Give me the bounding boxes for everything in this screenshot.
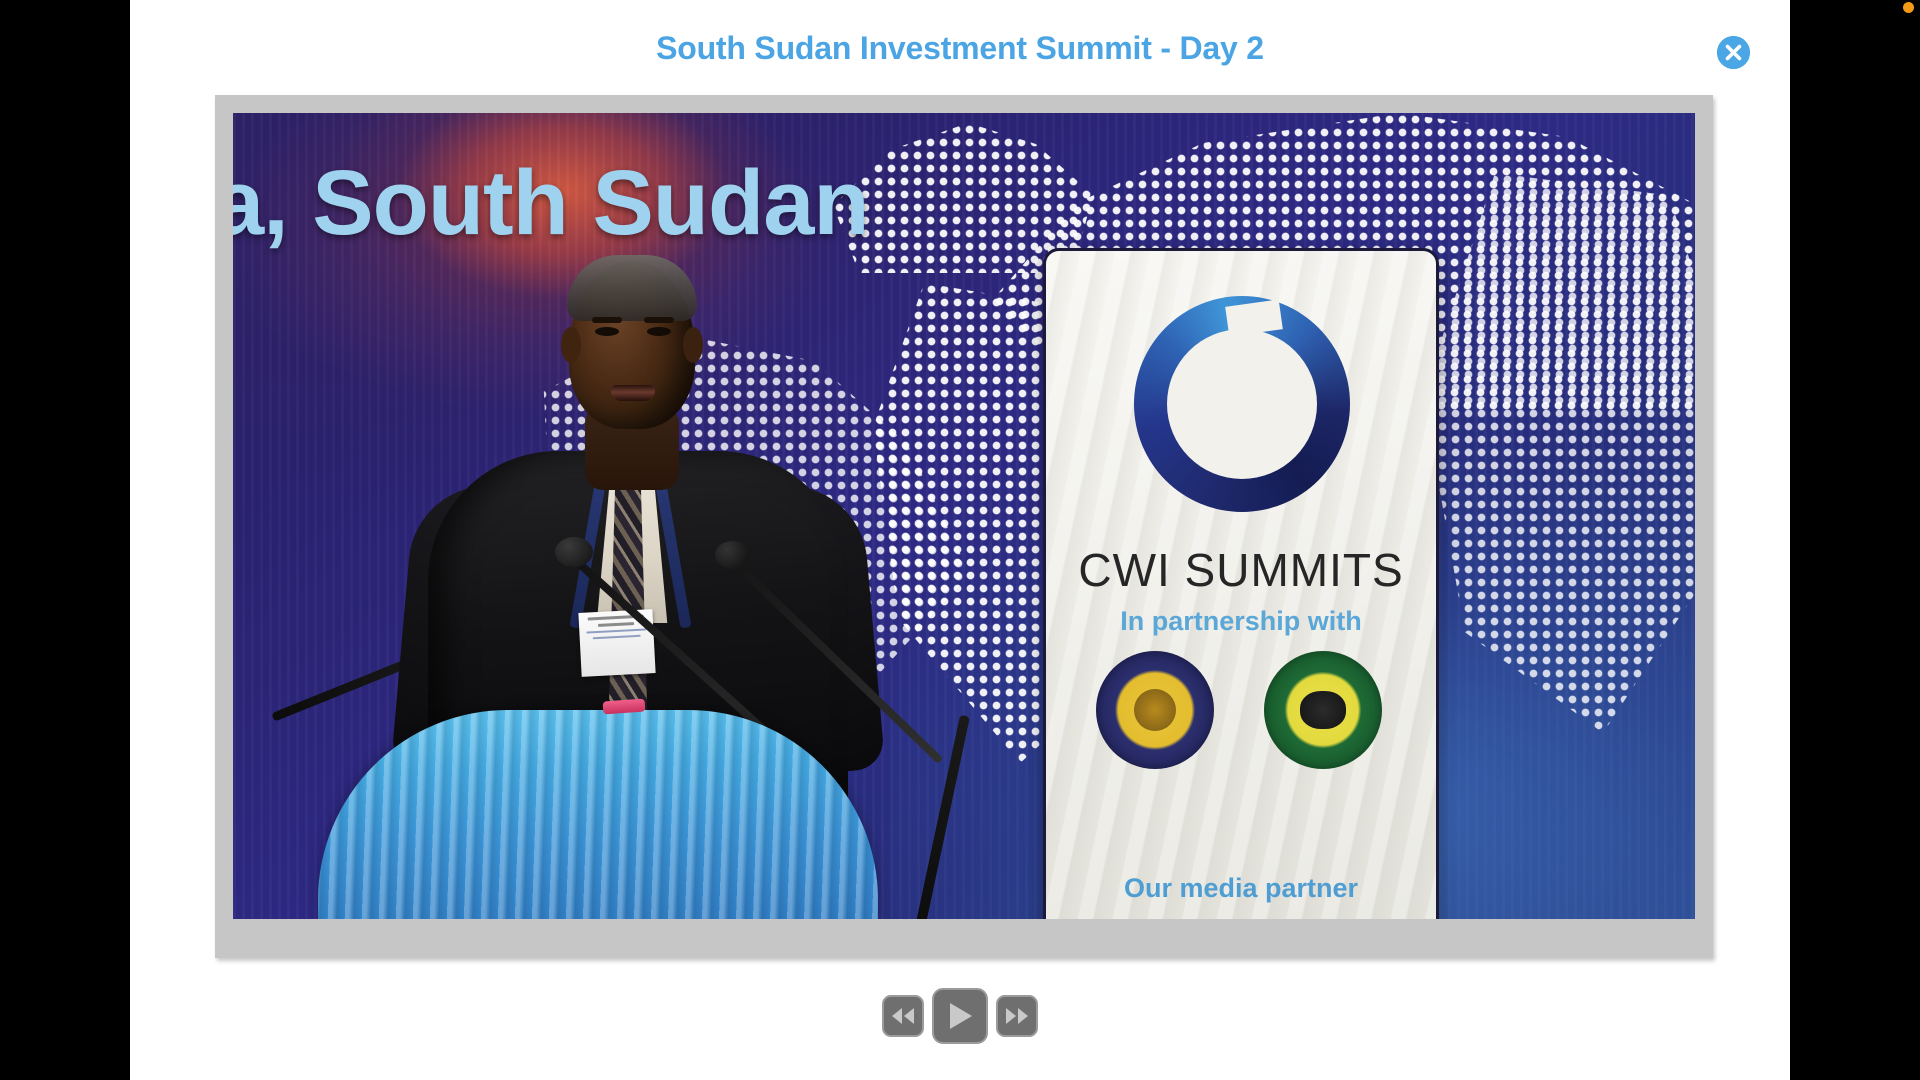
speaker-mouth xyxy=(611,385,655,401)
page-title: South Sudan Investment Summit - Day 2 xyxy=(130,30,1790,67)
fast-forward-icon xyxy=(1005,1007,1029,1025)
rewind-button[interactable] xyxy=(882,995,924,1037)
summit-photo: a, South Sudan CWI SUMMITS In partnershi… xyxy=(233,113,1695,919)
cwi-poster: CWI SUMMITS In partnership with Our medi… xyxy=(1043,248,1439,919)
poster-footer: Our media partner xyxy=(1046,873,1436,904)
letterbox-left xyxy=(0,0,130,1080)
badge-text-line xyxy=(593,635,641,639)
close-button[interactable] xyxy=(1717,36,1750,69)
backdrop-headline: a, South Sudan xyxy=(233,151,869,256)
poster-title: CWI SUMMITS xyxy=(1046,543,1436,597)
play-button[interactable] xyxy=(932,988,988,1044)
screen: South Sudan Investment Summit - Day 2 a,… xyxy=(0,0,1920,1080)
microphone-head-a xyxy=(555,537,593,567)
cwi-ring-logo xyxy=(1134,296,1350,512)
badge-text-line xyxy=(598,622,634,627)
rewind-icon xyxy=(891,1007,915,1025)
speaker-eyebrow-right xyxy=(644,317,674,323)
speaker-eyebrow-left xyxy=(592,317,622,323)
close-circle-icon xyxy=(1717,36,1750,69)
speaker-eye-left xyxy=(595,327,619,336)
playback-controls xyxy=(130,988,1790,1044)
photo-frame: a, South Sudan CWI SUMMITS In partnershi… xyxy=(215,95,1713,958)
speaker-eye-right xyxy=(647,327,671,336)
microphone-head-b xyxy=(715,541,749,569)
podium-table xyxy=(318,710,878,919)
letterbox-right xyxy=(1790,0,1920,1080)
lightbox-panel: South Sudan Investment Summit - Day 2 a,… xyxy=(130,0,1790,1080)
south-sudan-seal-gold-icon xyxy=(1096,651,1214,769)
south-sudan-seal-green-icon xyxy=(1264,651,1382,769)
speaker-ear-right xyxy=(683,327,703,363)
notification-dot xyxy=(1903,2,1914,13)
play-icon xyxy=(947,1002,973,1030)
badge-text-line xyxy=(587,628,646,633)
speaker-ear-left xyxy=(561,327,581,363)
poster-subtitle: In partnership with xyxy=(1046,606,1436,637)
fast-forward-button[interactable] xyxy=(996,995,1038,1037)
